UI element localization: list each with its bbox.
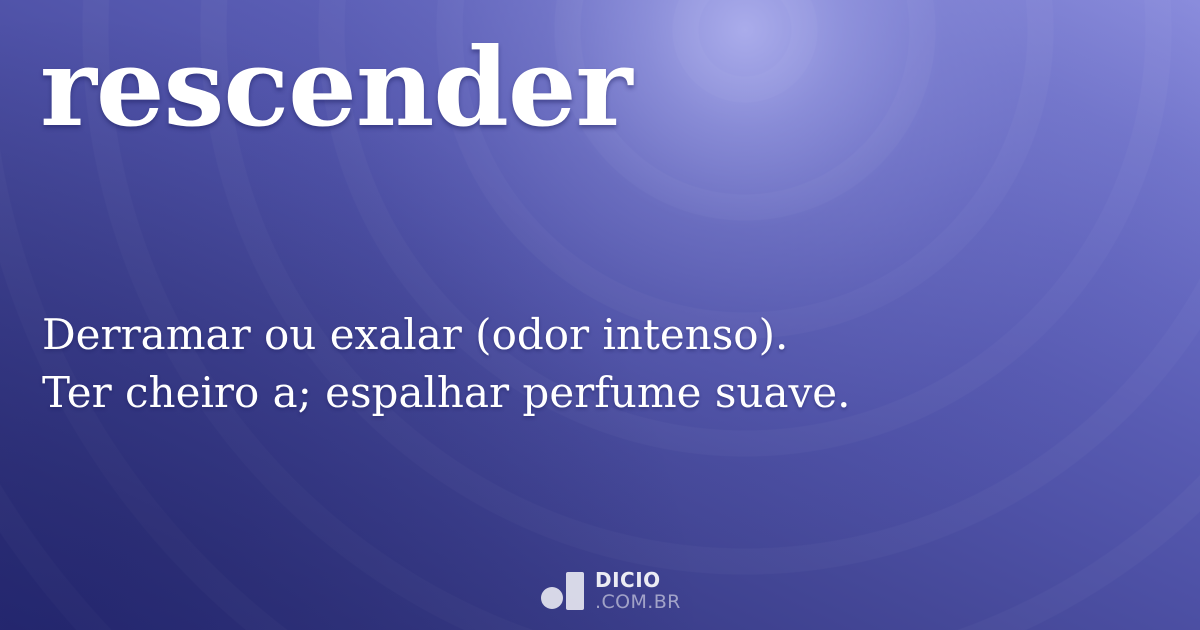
page-title-headword: rescender (40, 32, 1160, 145)
definition-list: Derramar ou exalar (odor intenso). Ter c… (42, 306, 1142, 422)
definition-line: Ter cheiro a; espalhar perfume suave. (42, 364, 1142, 422)
logo-wordmark: DICIO .COM.BR (595, 570, 681, 612)
logo-mark-icon (541, 572, 584, 610)
definition-line: Derramar ou exalar (odor intenso). (42, 306, 1142, 364)
circle-icon (541, 587, 563, 609)
logo-tld-label: .COM.BR (595, 593, 681, 612)
dicio-logo[interactable]: DICIO .COM.BR (541, 570, 681, 612)
bar-icon (566, 572, 584, 610)
dictionary-word-card: rescender Derramar ou exalar (odor inten… (0, 0, 1200, 630)
logo-name-label: DICIO (595, 570, 681, 590)
card-content: rescender Derramar ou exalar (odor inten… (0, 0, 1200, 630)
